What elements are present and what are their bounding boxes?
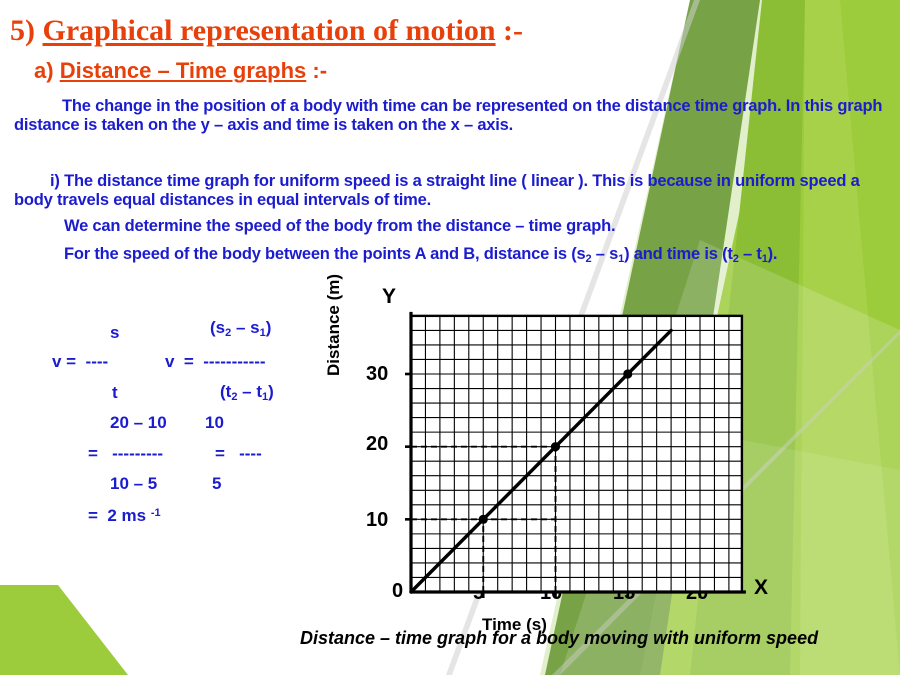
formula-numeric-numerator-left: 20 – 10 <box>110 413 167 433</box>
formula-equals-bar-left: = --------- <box>88 444 163 464</box>
formula-v-equals-left: v = ---- <box>52 352 108 372</box>
formula-result-exponent: -1 <box>151 507 161 519</box>
page-title-text: Graphical representation of motion <box>43 14 496 47</box>
paragraph-points-ab-b: – s <box>591 245 618 263</box>
formula-result-value: = 2 ms <box>88 506 151 525</box>
formula-v-equals-right: v = ----------- <box>165 352 266 372</box>
paragraph-points-ab: For the speed of the body between the po… <box>14 245 886 269</box>
paragraph-points-ab-a: For the speed of the body between the po… <box>64 245 586 263</box>
formula-denom2-open: (t <box>220 382 231 401</box>
page-title-number: 5) <box>10 14 35 47</box>
formula-numeric-denominator-right: 5 <box>212 474 221 494</box>
paragraph-points-ab-d: – t <box>739 245 762 263</box>
section-subtitle: a) Distance – Time graphs :- <box>34 58 327 84</box>
paragraph-determine-speed: We can determine the speed of the body f… <box>14 217 894 236</box>
formula-numerator-left: s <box>110 323 119 343</box>
page-title: 5) Graphical representation of motion :- <box>10 14 523 48</box>
formula-numer2-open: (s <box>210 318 225 337</box>
formula-numer2-mid: – s <box>231 318 259 337</box>
formula-denominator-right: (t2 – t1) <box>220 382 274 403</box>
formula-equals-bar-right: = ---- <box>215 444 262 464</box>
paragraph-points-ab-c: ) and time is (t <box>624 245 733 263</box>
formula-numeric-denominator-left: 10 – 5 <box>110 474 157 494</box>
formula-numeric-numerator-right: 10 <box>205 413 224 433</box>
plot-area <box>330 280 900 675</box>
formula-numerator-right: (s2 – s1) <box>210 318 271 339</box>
grid-minor <box>411 316 742 592</box>
section-subtitle-text: Distance – Time graphs <box>60 58 307 83</box>
distance-time-graph: Y X Distance (m) Time (s) 30 20 10 0 5 1… <box>330 280 900 675</box>
paragraph-uniform-speed: i) The distance time graph for uniform s… <box>14 172 894 210</box>
formula-result: = 2 ms -1 <box>88 506 161 526</box>
section-subtitle-suffix: :- <box>306 58 327 83</box>
formula-numer2-close: ) <box>266 318 272 337</box>
figure-caption: Distance – time graph for a body moving … <box>300 628 818 649</box>
formula-denom2-close: ) <box>268 382 274 401</box>
paragraph-points-ab-e: ). <box>768 245 778 263</box>
formula-denom2-mid: – t <box>237 382 262 401</box>
paragraph-intro: The change in the position of a body wit… <box>14 97 894 135</box>
page-title-suffix: :- <box>496 14 523 47</box>
formula-denominator-left: t <box>112 383 118 403</box>
slide-content: 5) Graphical representation of motion :-… <box>0 0 900 675</box>
slide: 5) Graphical representation of motion :-… <box>0 0 900 675</box>
section-subtitle-letter: a) <box>34 58 54 83</box>
